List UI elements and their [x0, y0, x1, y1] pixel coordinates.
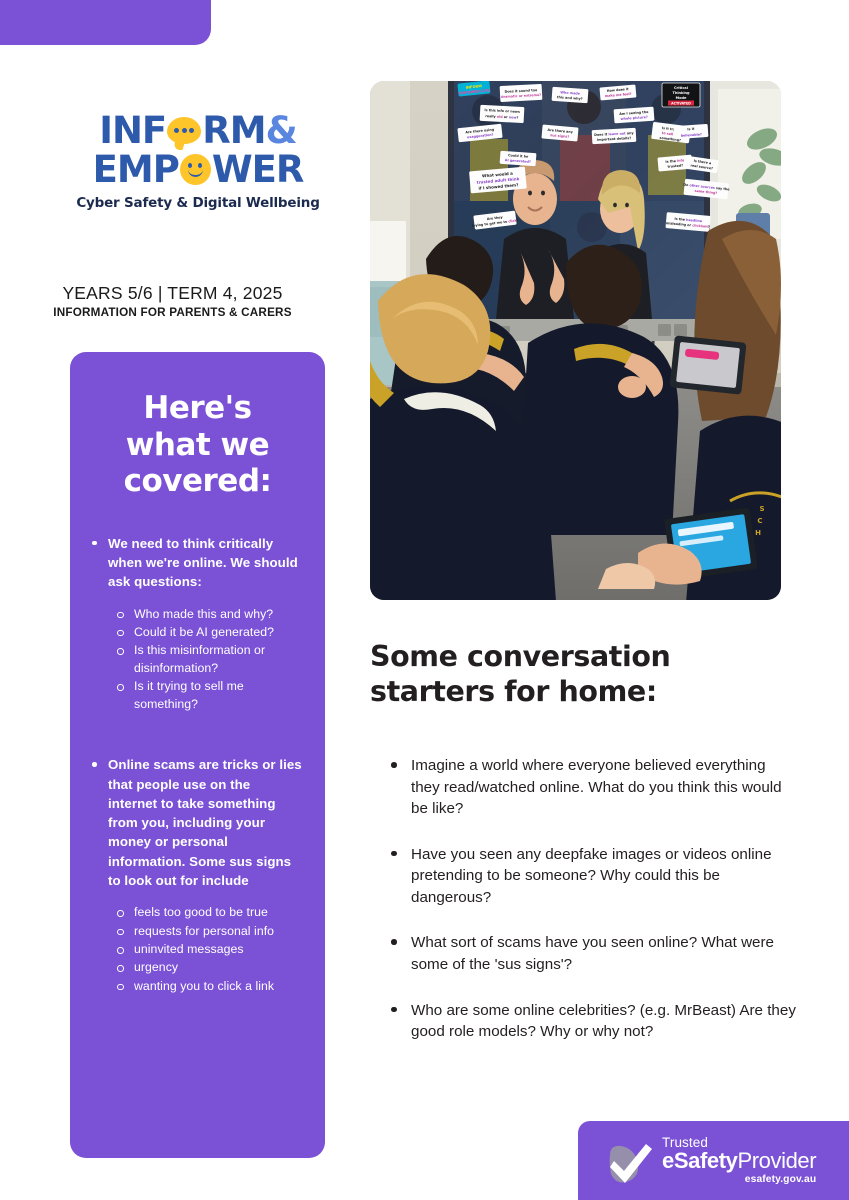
conversation-starters-list: Imagine a world where everyone believed … [373, 755, 798, 1067]
left-column: INF RM & EMP WER Cyber Safety & Digital … [0, 0, 345, 1200]
panel-body: We need to think critically when we're o… [70, 500, 325, 996]
badge-text: Trusted eSafetyProvider esafety.gov.au [662, 1136, 816, 1186]
covered-panel: Here's what we covered: We need to think… [70, 352, 325, 1158]
list-item: What sort of scams have you seen online?… [373, 932, 798, 975]
classroom-photo-illustration: Does it sound toodramatic or extreme? Wh… [370, 81, 781, 600]
critical-thinking-mode-badge: Critical Thinking Mode ACTIVATED [662, 83, 700, 107]
logo-line-empower: EMP WER [93, 151, 304, 188]
logo-text-inf: INF [99, 112, 166, 149]
panel-title: Here's what we covered: [70, 352, 325, 500]
smiley-face-icon [180, 154, 211, 185]
newsletter-page: INF RM & EMP WER Cyber Safety & Digital … [0, 0, 849, 1200]
covered-sublist-1: Who made this and why? Could it be AI ge… [108, 606, 303, 714]
covered-list-2: Online scams are tricks or lies that peo… [88, 755, 303, 995]
checkmark-icon [606, 1139, 654, 1183]
svg-text:H: H [755, 529, 761, 537]
svg-text:Critical: Critical [674, 86, 688, 90]
list-item: We need to think critically when we're o… [88, 534, 303, 714]
covered-list: We need to think critically when we're o… [88, 534, 303, 714]
list-item: Who made this and why? [108, 606, 303, 623]
badge-brand: eSafetyProvider [662, 1150, 816, 1172]
logo-text-wer: WER [212, 151, 304, 188]
list-item: wanting you to click a link [108, 978, 303, 995]
list-item: Online scams are tricks or lies that peo… [88, 755, 303, 995]
list-item: Is this misinformation or disinformation… [108, 642, 303, 677]
logo-text-ampersand: & [266, 112, 297, 149]
speech-bubble-icon [167, 117, 201, 144]
svg-text:ACTIVATED: ACTIVATED [671, 102, 691, 106]
list-item: Is it trying to sell me something? [108, 678, 303, 713]
svg-text:C: C [757, 517, 762, 525]
covered-main-text-1: We need to think critically when we're o… [108, 536, 298, 590]
logo-line-inform: INF RM & [99, 112, 297, 149]
logo-text-rm: RM [202, 112, 265, 149]
audience-label: INFORMATION FOR PARENTS & CARERS [0, 306, 345, 319]
classroom-photo: Does it sound toodramatic or extreme? Wh… [370, 81, 781, 600]
svg-text:Is it: Is it [687, 127, 695, 132]
badge-brand-esafety: eSafety [662, 1148, 737, 1173]
logo-text-emp: EMP [93, 151, 179, 188]
covered-main-text-2: Online scams are tricks or lies that peo… [108, 757, 302, 888]
list-item: feels too good to be true [108, 904, 303, 921]
svg-text:S: S [759, 505, 764, 513]
badge-url: esafety.gov.au [662, 1175, 816, 1185]
badge-trusted-label: Trusted [662, 1136, 816, 1150]
list-item: Imagine a world where everyone believed … [373, 755, 798, 820]
list-item: Could it be AI generated? [108, 624, 303, 641]
list-item: requests for personal info [108, 923, 303, 940]
list-item: urgency [108, 959, 303, 976]
inform-and-empower-logo: INF RM & EMP WER Cyber Safety & Digital … [70, 112, 326, 232]
covered-sublist-2: feels too good to be true requests for p… [108, 904, 303, 995]
svg-text:Thinking: Thinking [672, 91, 690, 95]
years-term-label: YEARS 5/6 | TERM 4, 2025 [0, 283, 345, 304]
badge-brand-provider: Provider [737, 1148, 816, 1173]
list-spacer [88, 717, 303, 755]
conversation-starters-title: Some conversation starters for home: [370, 640, 790, 710]
list-item: Who are some online celebrities? (e.g. M… [373, 1000, 798, 1043]
list-item: Have you seen any deepfake images or vid… [373, 844, 798, 909]
list-item: uninvited messages [108, 941, 303, 958]
svg-text:Mode: Mode [676, 96, 687, 100]
logo-tagline: Cyber Safety & Digital Wellbeing [76, 195, 319, 211]
esafety-trusted-provider-badge: Trusted eSafetyProvider esafety.gov.au [578, 1121, 849, 1200]
